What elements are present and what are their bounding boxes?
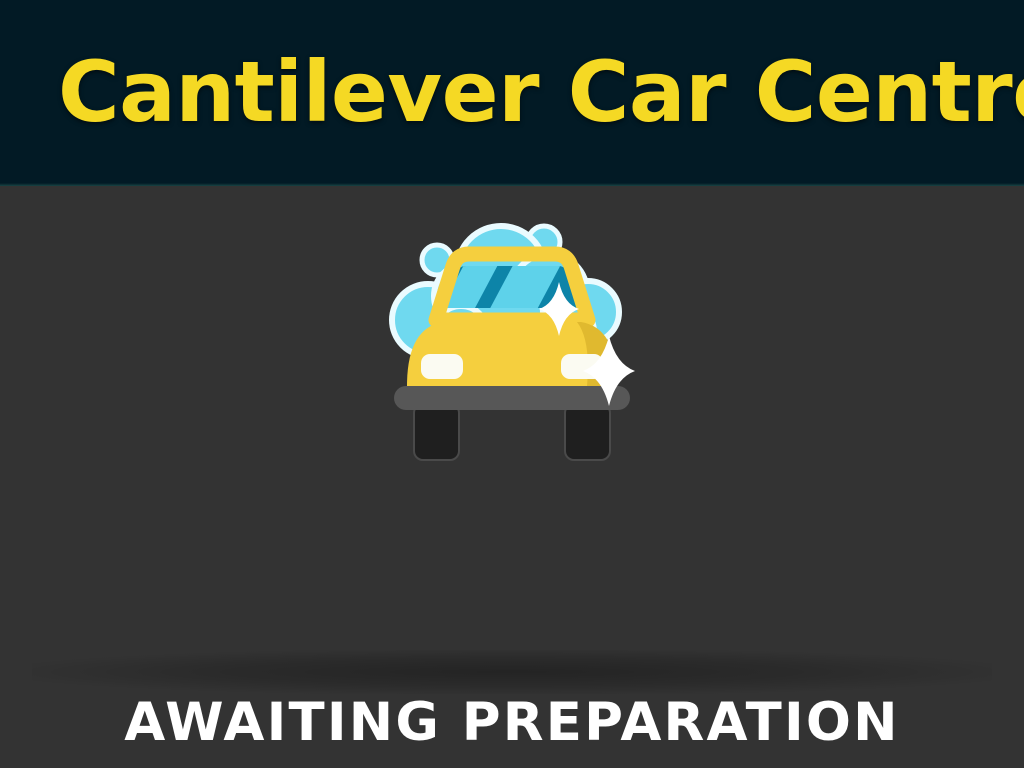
vehicle-placeholder-card: Cantilever Car Centre	[0, 0, 1024, 768]
bumper-bar	[394, 386, 630, 410]
wheel-right	[565, 404, 610, 460]
headlight-left	[421, 354, 463, 379]
car-wash-icon	[381, 208, 643, 470]
dealer-header-banner: Cantilever Car Centre	[0, 0, 1024, 186]
undercarriage-group	[394, 386, 630, 460]
dealer-name-title: Cantilever Car Centre	[58, 44, 978, 140]
wheel-left	[414, 404, 459, 460]
ground-shadow	[32, 650, 992, 694]
status-headline: AWAITING PREPARATION	[0, 689, 1024, 757]
placeholder-body: AWAITING PREPARATION 01925 411 911 david…	[0, 186, 1024, 768]
car-wash-illustration	[381, 208, 643, 470]
